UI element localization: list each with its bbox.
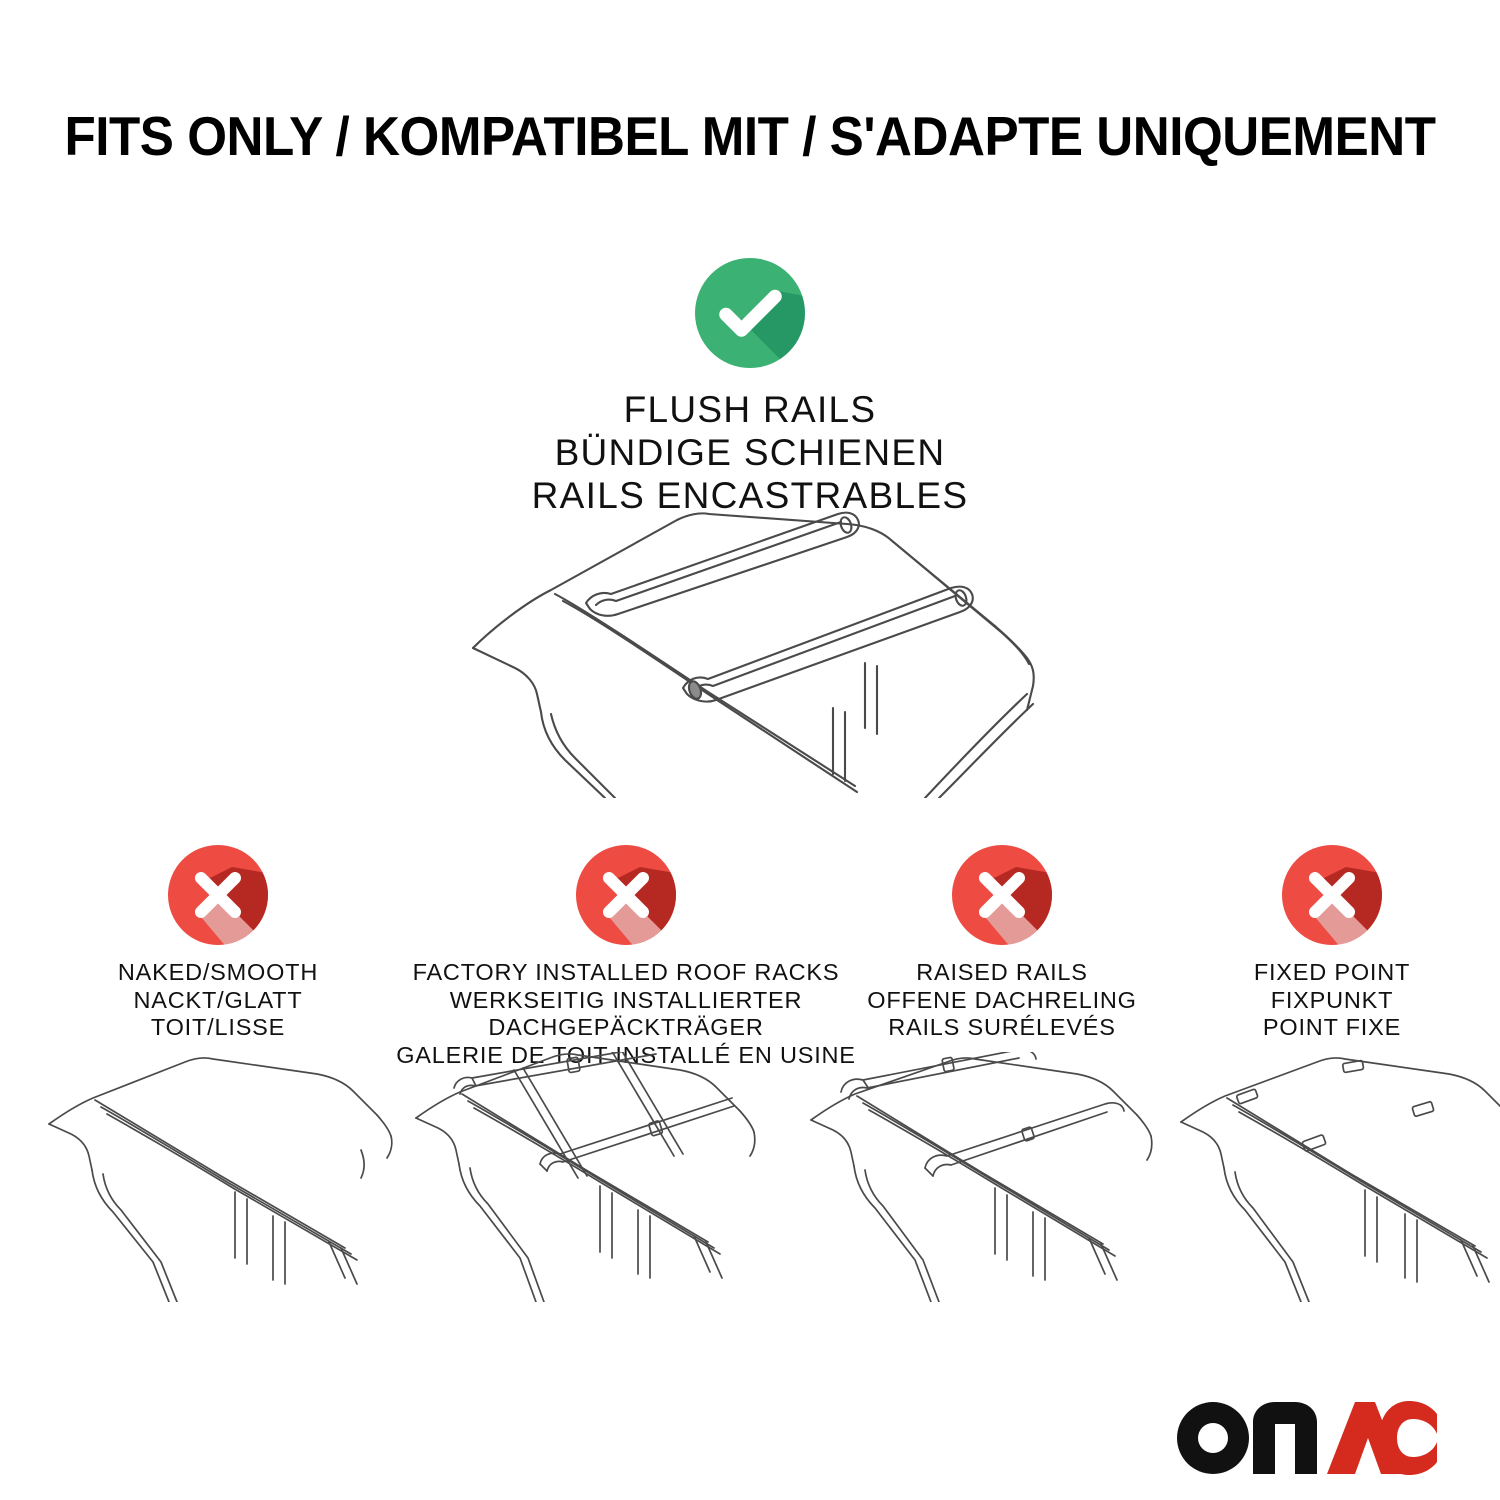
incompatible-caption: RAISED RAILS OFFENE DACHRELING RAILS SUR…	[828, 959, 1176, 1042]
incompatible-label-de-1: WERKSEITIG INSTALLIERTER	[396, 987, 856, 1015]
logo-letter-o	[1177, 1402, 1249, 1474]
x-circle-icon	[576, 845, 676, 945]
x-circle-icon	[1282, 845, 1382, 945]
naked-smooth-roof-illustration	[45, 1052, 405, 1302]
incompatible-label-en: NAKED/SMOOTH	[58, 959, 378, 987]
incompatible-item-fixed-point: FIXED POINT FIXPUNKT POINT FIXE	[1182, 845, 1482, 1042]
fixed-point-roof-illustration	[1175, 1052, 1500, 1302]
incompatible-item-factory-roof-racks: FACTORY INSTALLED ROOF RACKS WERKSEITIG …	[396, 845, 856, 1069]
incompatible-item-raised-rails: RAISED RAILS OFFENE DACHRELING RAILS SUR…	[828, 845, 1176, 1042]
incompatible-label-de-2: DACHGEPÄCKTRÄGER	[396, 1014, 856, 1042]
x-circle-icon	[168, 845, 268, 945]
logo-letter-c	[1379, 1401, 1437, 1475]
incompatible-label-de: NACKT/GLATT	[58, 987, 378, 1015]
incompatible-caption: NAKED/SMOOTH NACKT/GLATT TOIT/LISSE	[58, 959, 378, 1042]
incompatible-label-de: FIXPUNKT	[1182, 987, 1482, 1015]
compatible-block: FLUSH RAILS BÜNDIGE SCHIENEN RAILS ENCAS…	[0, 258, 1500, 517]
incompatible-caption: FIXED POINT FIXPUNKT POINT FIXE	[1182, 959, 1482, 1042]
check-circle-icon	[695, 258, 805, 368]
incompatible-label-de: OFFENE DACHRELING	[828, 987, 1176, 1015]
factory-roof-rack-illustration	[410, 1052, 770, 1302]
flush-rails-roof-illustration	[455, 498, 1075, 798]
incompatible-row: NAKED/SMOOTH NACKT/GLATT TOIT/LISSE	[0, 845, 1500, 1045]
compatible-label-en: FLUSH RAILS	[0, 388, 1500, 431]
fitment-infographic: FITS ONLY / KOMPATIBEL MIT / S'ADAPTE UN…	[0, 0, 1500, 1500]
omac-logo	[1175, 1398, 1440, 1478]
page-title: FITS ONLY / KOMPATIBEL MIT / S'ADAPTE UN…	[53, 104, 1448, 168]
x-circle-icon	[952, 845, 1052, 945]
incompatible-label-fr: TOIT/LISSE	[58, 1014, 378, 1042]
incompatible-label-fr: RAILS SURÉLEVÉS	[828, 1014, 1176, 1042]
logo-letter-m	[1253, 1402, 1317, 1474]
incompatible-label-en: RAISED RAILS	[828, 959, 1176, 987]
compatible-label-de: BÜNDIGE SCHIENEN	[0, 431, 1500, 474]
incompatible-label-en: FACTORY INSTALLED ROOF RACKS	[396, 959, 856, 987]
roof-illustrations-row	[0, 1052, 1500, 1302]
incompatible-label-en: FIXED POINT	[1182, 959, 1482, 987]
incompatible-item-naked-smooth: NAKED/SMOOTH NACKT/GLATT TOIT/LISSE	[58, 845, 378, 1042]
raised-rails-roof-illustration	[805, 1052, 1165, 1302]
incompatible-label-fr: POINT FIXE	[1182, 1014, 1482, 1042]
